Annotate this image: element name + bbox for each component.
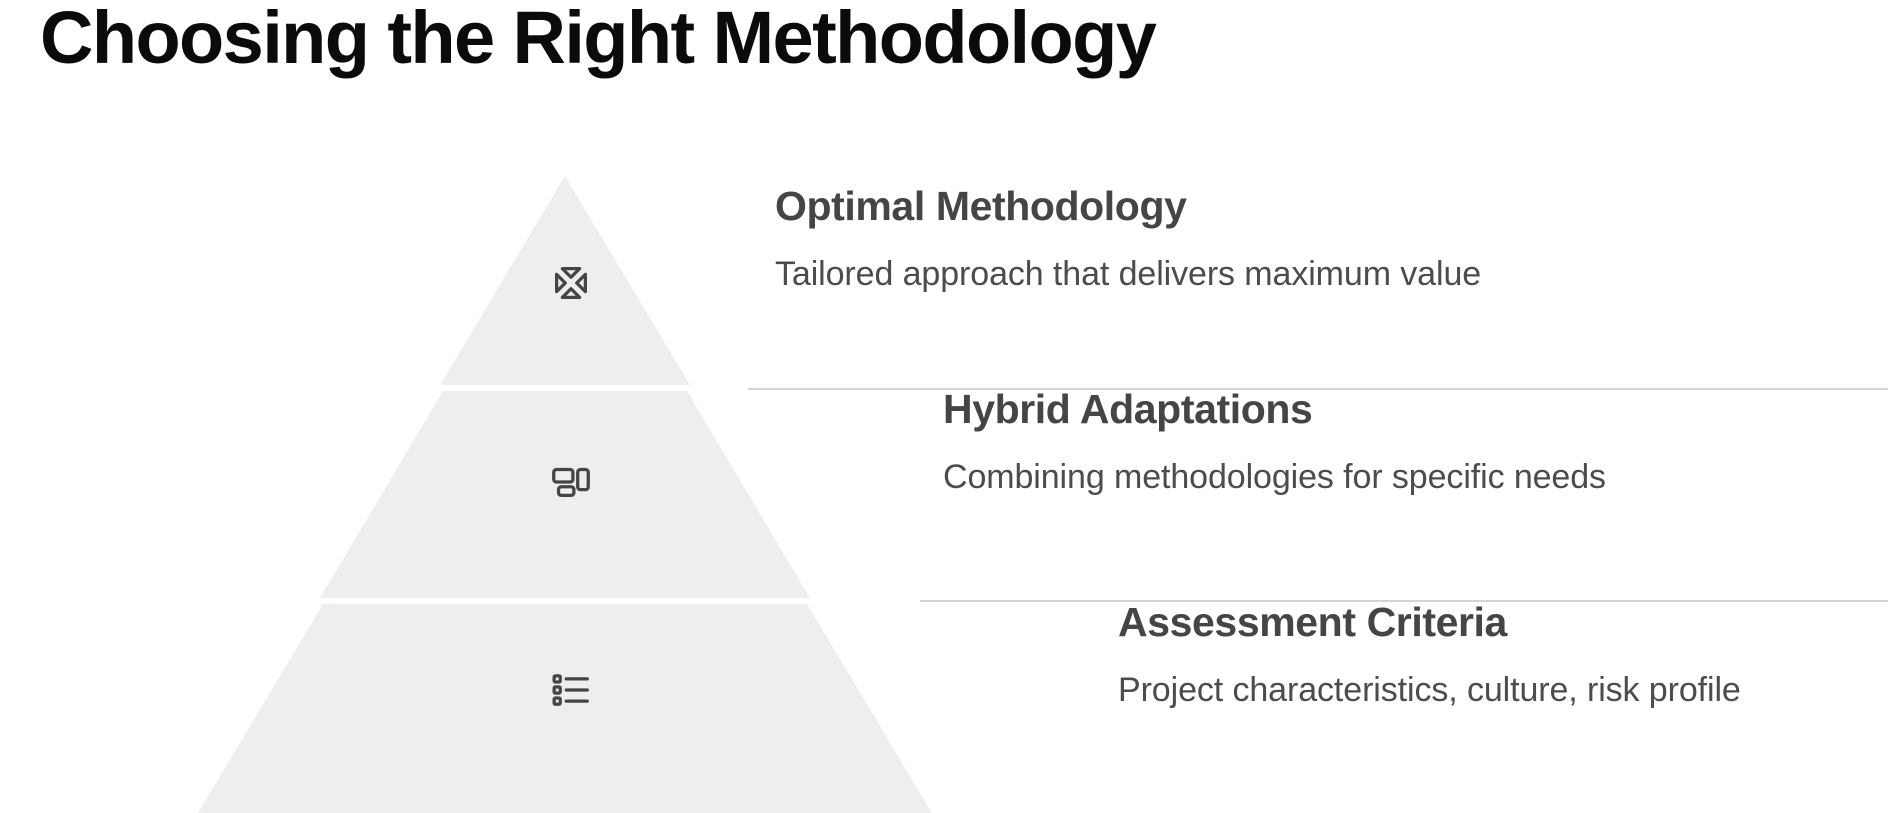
layout-dashboard-icon <box>540 451 602 513</box>
tier-2-text-block: Hybrid Adaptations Combining methodologi… <box>943 385 1606 499</box>
tier-3-description: Project characteristics, culture, risk p… <box>1118 669 1741 712</box>
page-title: Choosing the Right Methodology <box>40 0 1155 81</box>
list-details-icon <box>540 659 602 721</box>
tier-2-description: Combining methodologies for specific nee… <box>943 456 1606 499</box>
expand-arrows-icon <box>540 252 602 314</box>
tier-1-description: Tailored approach that delivers maximum … <box>775 253 1481 296</box>
tier-3-heading: Assessment Criteria <box>1118 598 1741 647</box>
pyramid-tier-1[interactable]: Optimal Methodology Tailored approach th… <box>0 176 1888 385</box>
tier-2-heading: Hybrid Adaptations <box>943 385 1606 434</box>
infographic-canvas: Choosing the Right Methodology Optimal M… <box>0 0 1888 813</box>
tier-3-text-block: Assessment Criteria Project characterist… <box>1118 598 1741 712</box>
tier-1-heading: Optimal Methodology <box>775 182 1481 231</box>
tier-1-text-block: Optimal Methodology Tailored approach th… <box>775 182 1481 296</box>
pyramid-tier-2[interactable]: Hybrid Adaptations Combining methodologi… <box>0 391 1888 598</box>
pyramid-tier-3[interactable]: Assessment Criteria Project characterist… <box>0 604 1888 813</box>
